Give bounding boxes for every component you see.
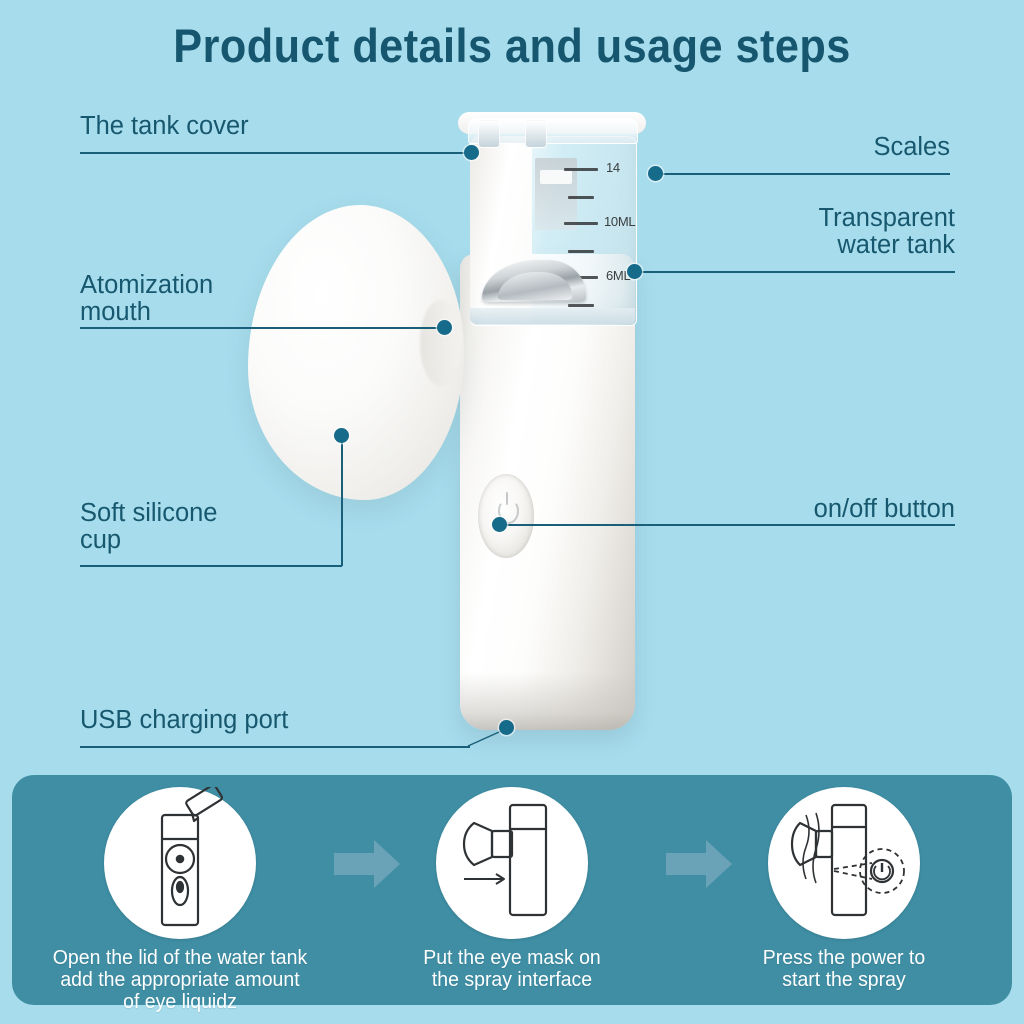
usage-step-2-caption: Put the eye mask on the spray interface — [370, 947, 655, 991]
callout-rule-soft-silicone-cup — [80, 565, 342, 567]
device-open-lid-icon — [104, 787, 256, 939]
scale-tick-minor — [568, 304, 594, 307]
usage-steps-panel: Open the lid of the water tank add the a… — [12, 775, 1012, 1005]
scale-tick-minor — [568, 250, 594, 253]
callout-dot-atomization-mouth — [437, 320, 452, 335]
infographic-canvas: Product details and usage steps 14 10ML … — [0, 0, 1024, 1024]
callout-dot-on-off-button — [492, 517, 507, 532]
callout-rule-usb-charging-port — [80, 746, 470, 748]
callout-dot-tank-cover — [464, 145, 479, 160]
callout-rule-on-off-button — [504, 524, 955, 526]
callout-rule-transparent-water-tank — [635, 271, 955, 273]
callout-label-scales: Scales — [700, 134, 950, 161]
callout-label-atomization-mouth: Atomization mouth — [80, 272, 213, 326]
device-attach-mask-icon — [436, 787, 588, 939]
device-body-shadow — [460, 672, 635, 730]
scale-tick-minor — [568, 196, 594, 199]
scale-tick-major — [564, 168, 598, 171]
device-press-power-icon — [768, 787, 920, 939]
callout-rule-soft-silicone-cup-vertical — [341, 437, 343, 566]
product-illustration: 14 10ML 6ML — [440, 112, 655, 730]
callout-label-soft-silicone-cup: Soft silicone cup — [80, 500, 218, 554]
usage-step-1-caption: Open the lid of the water tank add the a… — [38, 947, 323, 1013]
tank-base — [470, 308, 635, 324]
scale-label-14: 14 — [606, 160, 620, 175]
callout-rule-atomization-mouth — [80, 327, 445, 329]
callout-rule-tank-cover — [80, 152, 472, 154]
callout-dot-transparent-water-tank — [627, 264, 642, 279]
callout-label-usb-charging-port: USB charging port — [80, 707, 288, 734]
tank-inner-slot — [540, 170, 572, 184]
callout-label-on-off-button: on/off button — [700, 496, 955, 523]
arrow-right-icon — [334, 838, 402, 890]
page-title: Product details and usage steps — [41, 18, 983, 73]
callout-leader-usb-charging-port — [468, 724, 528, 760]
power-symbol-bar-icon — [506, 492, 508, 505]
scale-label-10ml: 10ML — [604, 214, 635, 229]
tank-cover-clasp-left — [478, 120, 500, 148]
callout-dot-scales — [648, 166, 663, 181]
callout-rule-scales — [662, 173, 950, 175]
callout-label-tank-cover: The tank cover — [80, 113, 249, 140]
usage-step-3-caption: Press the power to start the spray — [702, 947, 987, 991]
callout-label-transparent-water-tank: Transparent water tank — [700, 205, 955, 259]
arrow-right-icon — [666, 838, 734, 890]
soft-silicone-cup-rim — [420, 300, 462, 386]
scale-tick-major — [564, 222, 598, 225]
callout-dot-usb-charging-port — [499, 720, 514, 735]
callout-dot-soft-silicone-cup — [334, 428, 349, 443]
tank-cover-clasp-right — [525, 120, 547, 148]
